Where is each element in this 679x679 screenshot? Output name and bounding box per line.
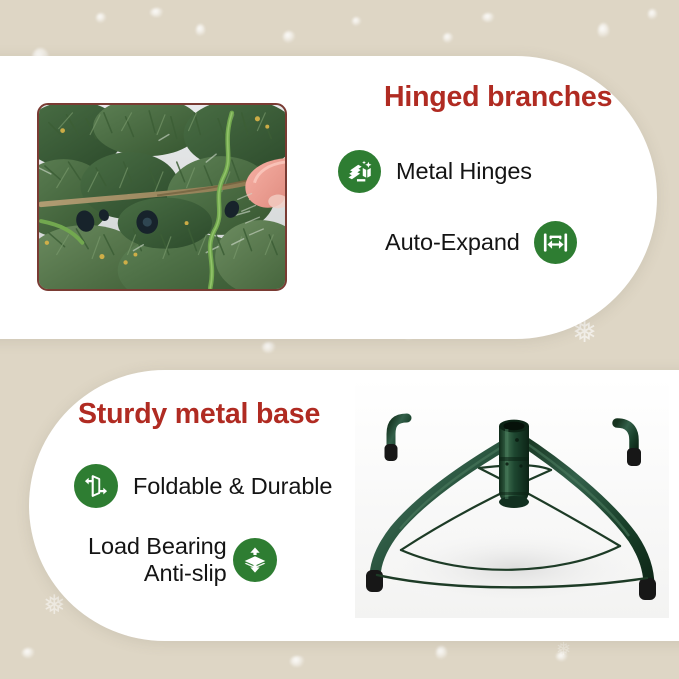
- expand-arrows-icon: [534, 221, 577, 264]
- snow-blob: [283, 31, 295, 43]
- feature-foldable-durable: Foldable & Durable: [74, 464, 332, 508]
- feature-label-foldable-durable: Foldable & Durable: [133, 473, 332, 500]
- expand-arrows-icon-art: [541, 228, 570, 257]
- photo-metal-base-art: [355, 378, 669, 618]
- snow-blob: [96, 13, 106, 23]
- photo-hinged-branches: [37, 103, 287, 291]
- snow-blob: [556, 652, 568, 661]
- feature-label-auto-expand: Auto-Expand: [385, 229, 520, 256]
- feature-label-load-bearing-anti-slip: Load Bearing Anti-slip: [88, 533, 227, 587]
- snow-blob: [598, 23, 609, 39]
- snow-blob: [648, 9, 657, 20]
- feature-load-bearing-anti-slip: Load Bearing Anti-slip: [88, 533, 277, 587]
- page-title-hinged-branches: Hinged branches: [384, 81, 612, 114]
- snow-blob: [196, 24, 205, 37]
- snow-blob: [150, 8, 164, 17]
- photo-metal-base: [355, 378, 669, 618]
- snow-blob: [290, 656, 305, 667]
- feature-metal-hinges: Metal Hinges: [338, 150, 532, 193]
- snow-blob: [443, 33, 453, 43]
- snowflake-icon: ❅: [43, 592, 66, 619]
- snow-blob: [22, 648, 35, 658]
- feature-label-metal-hinges: Metal Hinges: [396, 158, 532, 185]
- page-title-sturdy-metal-base: Sturdy metal base: [78, 398, 320, 431]
- snow-blob: [436, 646, 447, 660]
- metal-bars-icon-art: [345, 157, 374, 186]
- photo-hinged-branches-art: [39, 105, 285, 290]
- fold-arrows-icon: [74, 464, 118, 508]
- feature-auto-expand: Auto-Expand: [385, 221, 577, 264]
- snow-blob: [262, 342, 276, 353]
- load-layers-icon: [233, 538, 277, 582]
- snow-blob: [352, 17, 361, 26]
- snow-blob: [482, 13, 495, 22]
- metal-bars-icon: [338, 150, 381, 193]
- fold-arrows-icon-art: [81, 471, 111, 501]
- load-layers-icon-art: [240, 545, 270, 575]
- snowflake-icon: ❅: [556, 640, 571, 658]
